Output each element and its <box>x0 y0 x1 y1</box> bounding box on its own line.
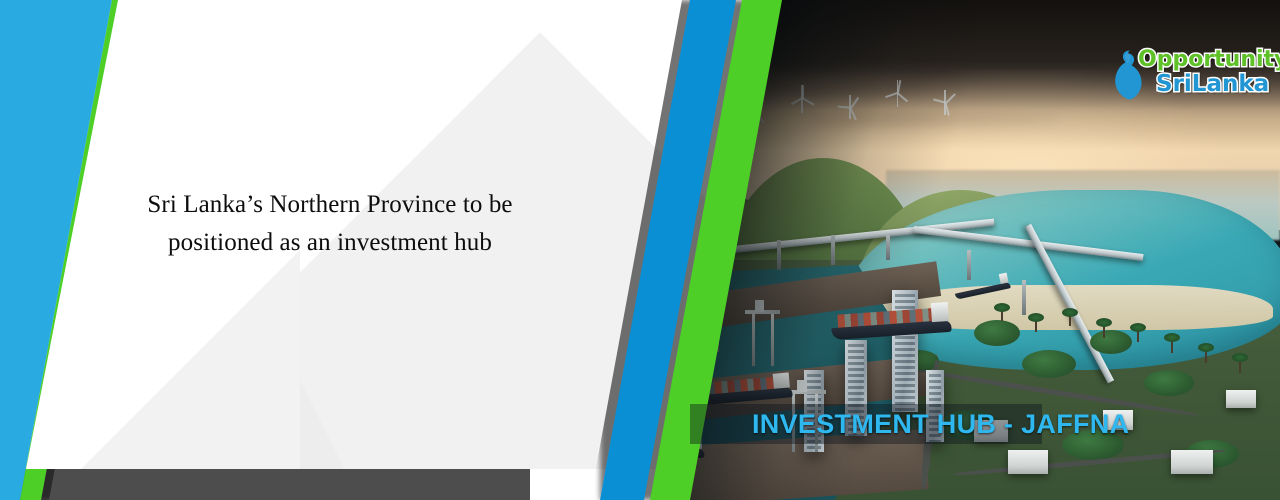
logo-word-top: Opportunity <box>1138 48 1280 72</box>
banner-graphic: Sri Lanka’s Northern Province to be posi… <box>0 0 1280 500</box>
bottom-plinth-strip <box>0 468 530 500</box>
caption-text: INVESTMENT HUB - JAFFNA <box>752 411 1129 438</box>
headline-text: Sri Lanka’s Northern Province to be posi… <box>110 186 550 262</box>
logo-word-bottom: SriLanka <box>1156 72 1269 97</box>
logo-wordmark: Opportunity SriLanka Opportunity SriLank… <box>1134 47 1276 105</box>
opportunity-srilanka-logo[interactable]: Opportunity SriLanka Opportunity SriLank… <box>1112 47 1274 107</box>
